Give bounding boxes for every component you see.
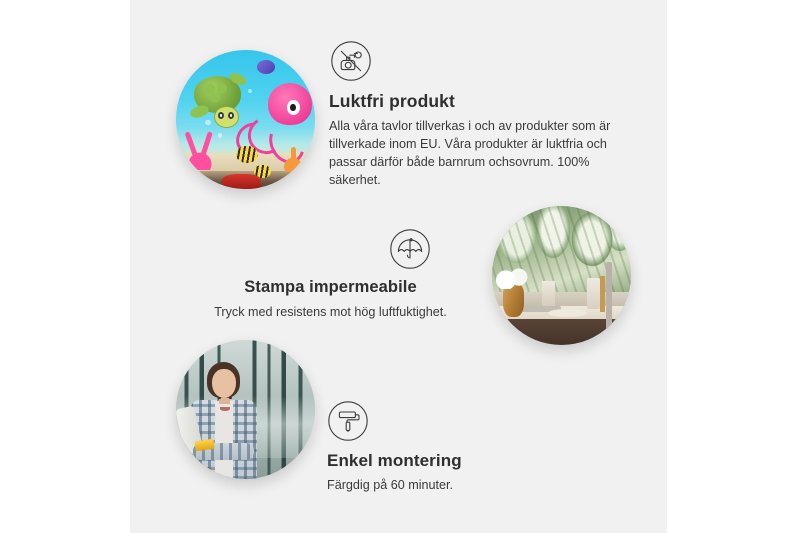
feature-block-odourless: Luktfri produkt Alla våra tavlor tillver… <box>329 40 629 190</box>
feature-body: Tryck med resistens mot hög luftfuktighe… <box>188 304 473 322</box>
product-feature-banner: Luktfri produkt Alla våra tavlor tillver… <box>0 0 800 533</box>
feature-body: Färgdig på 60 minuter. <box>327 477 607 495</box>
feature-title: Luktfri produkt <box>329 91 629 112</box>
bathroom-tropical-wallpaper-photo <box>492 206 631 345</box>
underwater-cartoon-photo <box>176 50 315 189</box>
feature-block-waterproof: Stampa impermeabile Tryck med resistens … <box>188 228 473 322</box>
no-odour-spray-bottle-icon <box>330 40 372 82</box>
feature-title: Enkel montering <box>327 451 607 471</box>
woman-in-forest-photo <box>176 340 315 479</box>
feature-block-easy-mount: Enkel montering Färgdig på 60 minuter. <box>327 400 607 495</box>
feature-title: Stampa impermeabile <box>188 278 473 298</box>
paint-roller-icon <box>327 400 369 442</box>
feature-body: Alla våra tavlor tillverkas i och av pro… <box>329 118 629 190</box>
umbrella-icon <box>389 228 431 270</box>
